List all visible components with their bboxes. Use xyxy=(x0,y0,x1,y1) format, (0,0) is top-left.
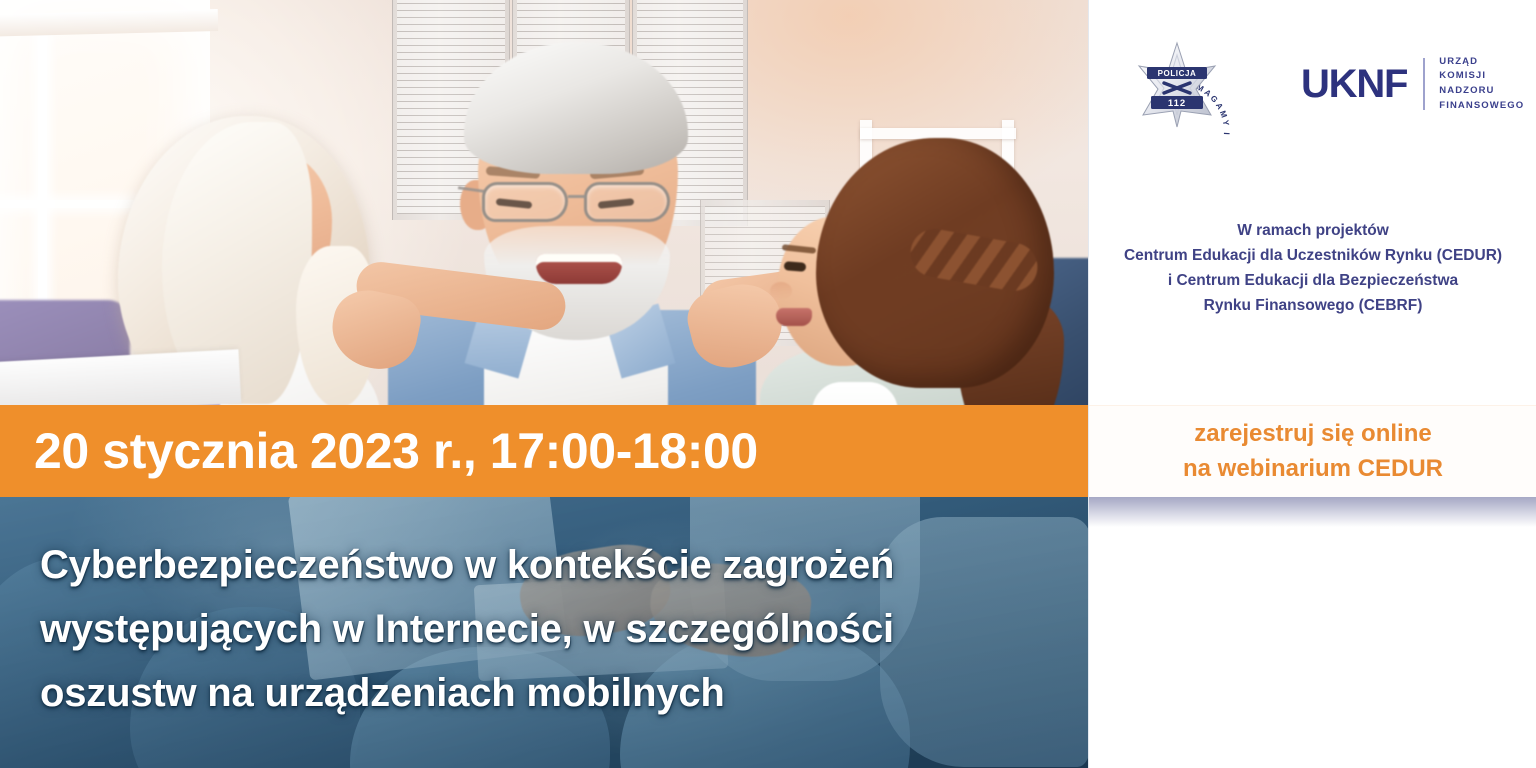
title-line-1: Cyberbezpieczeństwo w kontekście zagroże… xyxy=(40,533,1088,597)
uknf-subtitle-line-2: KOMISJI xyxy=(1439,69,1524,84)
webinar-title: Cyberbezpieczeństwo w kontekście zagroże… xyxy=(0,497,1088,768)
project-line-4: Rynku Finansowego (CEBRF) xyxy=(1097,293,1529,318)
uknf-divider xyxy=(1423,58,1425,110)
uknf-logo: UKNF URZĄD KOMISJI NADZORU FINANSOWEGO xyxy=(1301,55,1524,114)
project-description: W ramach projektów Centrum Edukacji dla … xyxy=(1089,218,1536,318)
svg-text:112: 112 xyxy=(1168,98,1186,109)
date-banner-text: 20 stycznia 2023 r., 17:00-18:00 xyxy=(0,422,758,480)
webinar-poster: 20 stycznia 2023 r., 17:00-18:00 Cyberbe… xyxy=(0,0,1536,768)
section-divider xyxy=(1089,497,1536,527)
uknf-subtitle: URZĄD KOMISJI NADZORU FINANSOWEGO xyxy=(1439,55,1524,114)
register-line-2: na webinarium CEDUR xyxy=(1183,452,1443,486)
left-visual-panel: 20 stycznia 2023 r., 17:00-18:00 Cyberbe… xyxy=(0,0,1088,768)
project-line-1: W ramach projektów xyxy=(1097,218,1529,243)
uknf-wordmark: UKNF xyxy=(1301,64,1407,104)
family-photo xyxy=(0,0,1088,406)
register-callout[interactable]: zarejestruj się online na webinarium CED… xyxy=(1089,405,1536,497)
police-badge-icon: POMAGAMY I CHRONIMY POLICJA xyxy=(1115,28,1239,140)
logo-row: POMAGAMY I CHRONIMY POLICJA xyxy=(1089,22,1536,146)
right-info-panel: POMAGAMY I CHRONIMY POLICJA xyxy=(1088,0,1536,768)
project-line-2: Centrum Edukacji dla Uczestników Rynku (… xyxy=(1097,243,1529,268)
uknf-subtitle-line-1: URZĄD xyxy=(1439,55,1524,70)
project-line-3: i Centrum Edukacji dla Bezpieczeństwa xyxy=(1097,268,1529,293)
register-line-1: zarejestruj się online xyxy=(1194,417,1431,451)
person-girl xyxy=(760,96,1076,406)
title-line-2: występujących w Internecie, w szczególno… xyxy=(40,597,1088,661)
eyeglasses xyxy=(472,182,684,222)
uknf-subtitle-line-3: NADZORU xyxy=(1439,84,1524,99)
title-line-3: oszustw na urządzeniach mobilnych xyxy=(40,661,1088,725)
uknf-subtitle-line-4: FINANSOWEGO xyxy=(1439,99,1524,114)
svg-text:POLICJA: POLICJA xyxy=(1158,69,1197,78)
date-banner: 20 stycznia 2023 r., 17:00-18:00 xyxy=(0,405,1088,497)
